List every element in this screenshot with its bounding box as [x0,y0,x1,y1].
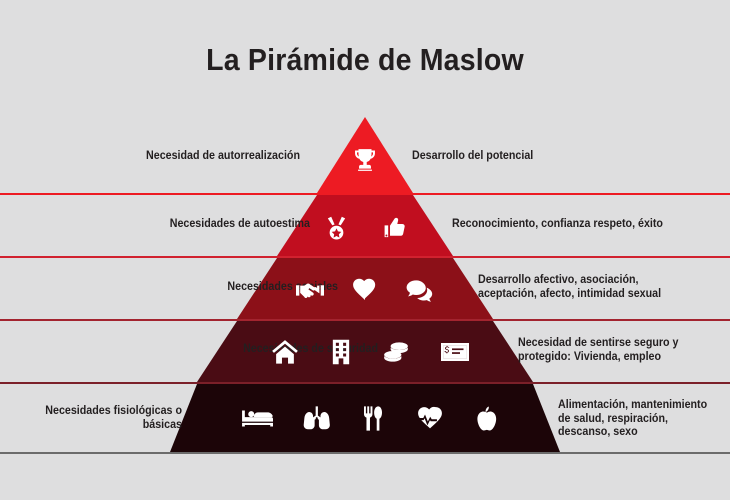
heartbeat-icon [415,405,445,431]
speech-bubbles-icon [405,277,435,303]
coins-icon [382,339,410,365]
infographic-canvas: La Pirámide de Maslow Necesidad de autor… [0,0,730,500]
cutlery-icon [361,405,385,432]
tier-icons-sociales [280,270,450,310]
house-icon [270,338,300,366]
divider-tier-5 [0,452,730,454]
tier-icons-autorrealizacion [317,140,413,180]
tier-icons-autoestima [295,208,435,248]
tier-label-right-sociales: Desarrollo afectivo, asociación, aceptac… [478,274,694,301]
tier-label-left-autoestima: Necesidades de autoestima [68,218,310,232]
divider-tier-2 [0,256,730,258]
medal-icon [323,215,350,242]
tier-label-right-autorrealizacion: Desarrollo del potencial [412,150,645,164]
page-title: La Pirámide de Maslow [29,42,701,78]
heart-icon [351,277,379,303]
building-icon [330,338,352,366]
tier-icons-fisiologicas [215,398,525,438]
bed-icon [241,405,273,431]
trophy-icon [352,147,378,173]
tier-label-right-autoestima: Reconocimiento, confianza respeto, éxito [452,218,703,232]
thumbs-up-icon [382,215,408,241]
divider-tier-1 [0,193,730,195]
tier-label-right-seguridad: Necesidad de sentirse seguro y protegido… [518,337,713,364]
tier-label-right-fisiologicas: Alimentación, mantenimiento de salud, re… [558,399,718,440]
cheque-icon [440,340,470,364]
tier-icons-seguridad [250,332,490,372]
lungs-icon [303,405,331,432]
tier-label-left-fisiologicas: Necesidades fisiológicas o básicas [5,405,182,432]
apple-icon [475,405,499,432]
divider-tier-4 [0,382,730,384]
divider-tier-3 [0,319,730,321]
handshake-icon [295,276,325,304]
tier-label-left-autorrealizacion: Necesidad de autorrealización [58,150,300,164]
